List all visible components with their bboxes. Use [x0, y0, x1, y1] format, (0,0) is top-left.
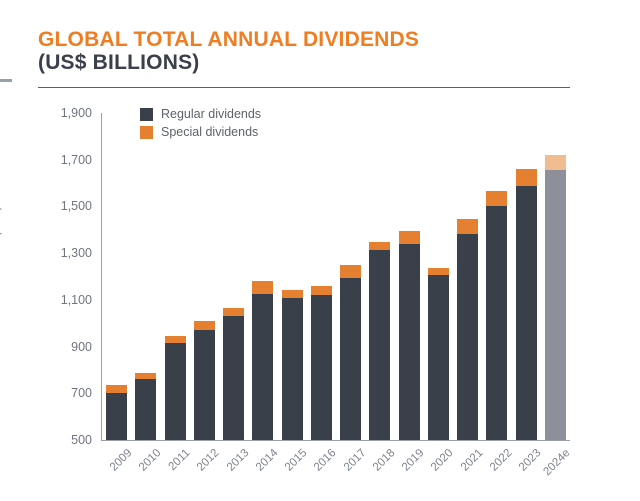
bar-segment-special: [106, 385, 127, 393]
legend-item-special: Special dividends: [140, 125, 261, 139]
bar-segment-special: [369, 242, 390, 249]
y-axis-tick-label: 1,500: [36, 199, 92, 213]
bar-segment-special: [194, 321, 215, 329]
legend-label-special: Special dividends: [161, 126, 258, 139]
bar-segment-special: [165, 336, 186, 343]
bar-2018[interactable]: [369, 242, 390, 440]
y-axis-tick-label: 1,900: [36, 106, 92, 120]
plot-area: [101, 113, 570, 441]
y-axis-label: Billions (US$): [0, 206, 2, 276]
bar-2020[interactable]: [428, 268, 449, 440]
bar-segment-special: [399, 231, 420, 244]
bar-segment-regular: [311, 295, 332, 440]
bar-segment-regular: [428, 275, 449, 440]
bar-segment-special: [135, 373, 156, 379]
dividends-bar-chart: 5007009001,1001,3001,5001,7001,900 Billi…: [0, 0, 640, 501]
bar-2014[interactable]: [252, 281, 273, 440]
bar-segment-regular: [282, 298, 303, 440]
bar-segment-regular: [135, 379, 156, 440]
legend-label-regular: Regular dividends: [161, 108, 261, 121]
legend-item-regular: Regular dividends: [140, 107, 261, 121]
bar-segment-regular: [106, 393, 127, 440]
y-axis-tick-label: 1,300: [36, 246, 92, 260]
bar-segment-special: [457, 219, 478, 234]
bar-segment-special: [252, 281, 273, 294]
bar-2015[interactable]: [282, 290, 303, 440]
bar-2017[interactable]: [340, 265, 361, 440]
bar-2023[interactable]: [516, 169, 537, 440]
y-axis-tick-label: 1,100: [36, 293, 92, 307]
bar-segment-special: [428, 268, 449, 276]
bar-segment-regular: [369, 250, 390, 440]
bar-segment-regular: [486, 206, 507, 440]
bar-segment-regular: [340, 278, 361, 440]
bar-segment-regular: [516, 186, 537, 440]
bar-2022[interactable]: [486, 191, 507, 440]
bar-2019[interactable]: [399, 231, 420, 440]
bar-segment-special: [282, 290, 303, 298]
bar-2016[interactable]: [311, 286, 332, 440]
legend-swatch-regular-icon: [140, 108, 153, 121]
bar-segment-special: [545, 155, 566, 170]
bar-segment-regular: [457, 234, 478, 440]
bar-2021[interactable]: [457, 219, 478, 440]
bar-2010[interactable]: [135, 373, 156, 440]
y-axis-tick-label: 500: [36, 433, 92, 447]
bar-segment-regular: [545, 170, 566, 440]
bar-segment-regular: [194, 330, 215, 440]
bar-segment-special: [311, 286, 332, 294]
bar-2013[interactable]: [223, 308, 244, 440]
bar-2009[interactable]: [106, 385, 127, 440]
y-axis-tick-label: 1,700: [36, 153, 92, 167]
bar-segment-special: [340, 265, 361, 278]
bar-segment-regular: [223, 316, 244, 440]
bar-segment-regular: [252, 294, 273, 440]
chart-legend: Regular dividends Special dividends: [140, 107, 261, 143]
bar-segment-special: [516, 169, 537, 186]
bar-segment-regular: [165, 343, 186, 440]
bar-segment-special: [223, 308, 244, 316]
legend-swatch-special-icon: [140, 126, 153, 139]
bar-segment-regular: [399, 244, 420, 440]
bar-2012[interactable]: [194, 321, 215, 440]
bar-2024e[interactable]: [545, 155, 566, 440]
bar-segment-special: [486, 191, 507, 207]
y-axis-tick-label: 700: [36, 386, 92, 400]
bar-2011[interactable]: [165, 336, 186, 440]
y-axis-tick-label: 900: [36, 340, 92, 354]
